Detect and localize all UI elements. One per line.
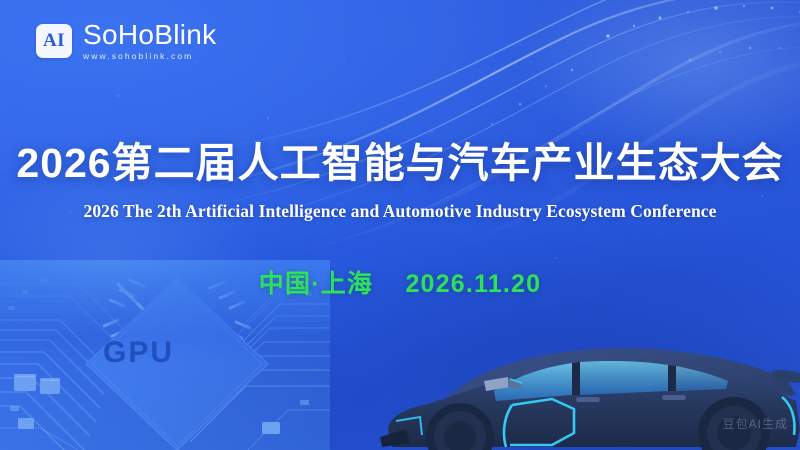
brand-badge-text: AI [43, 30, 65, 52]
watermark: 豆包AI生成 [723, 415, 788, 432]
gpu-chip-label: GPU [103, 336, 174, 370]
brand-name: SoHoBlink [83, 20, 216, 49]
page-subtitle: 2026 The 2th Artificial Intelligence and… [0, 201, 800, 222]
event-location: 中国·上海 [259, 270, 373, 298]
event-date: 2026.11.20 [405, 270, 541, 298]
brand-text-block: SoHoBlink www.sohoblink.com [83, 20, 216, 61]
conference-poster: GPU [0, 0, 800, 450]
brand-badge-icon: AI [36, 24, 72, 58]
brand-url: www.sohoblink.com [83, 51, 216, 61]
brand-logo[interactable]: AI SoHoBlink www.sohoblink.com [36, 20, 216, 61]
event-meta: 中国·上海 2026.11.20 [0, 264, 800, 300]
page-title: 2026第二届人工智能与汽车产业生态大会 [0, 141, 800, 187]
